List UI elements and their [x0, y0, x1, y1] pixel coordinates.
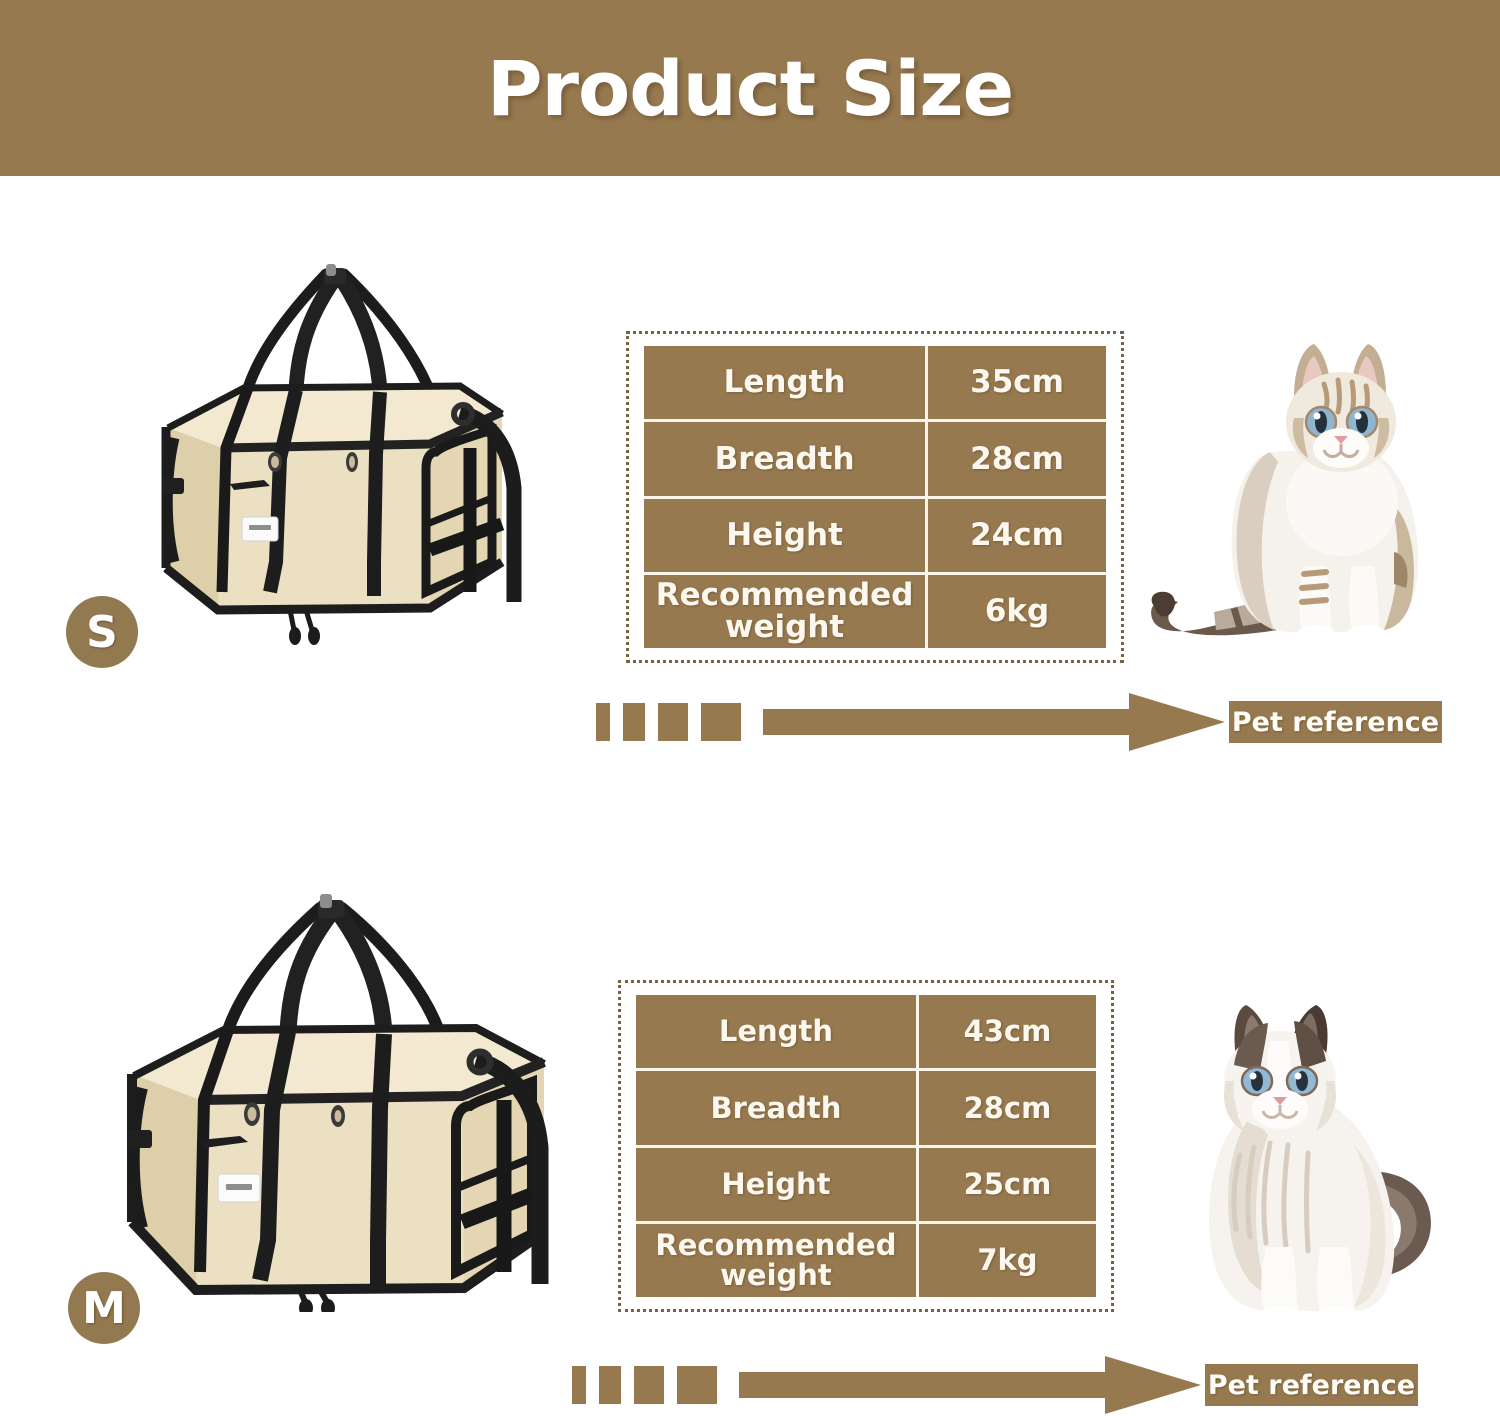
- spec-value: 28cm: [928, 422, 1106, 495]
- spec-value: 6kg: [928, 575, 1106, 648]
- arrow-dash: [658, 703, 688, 741]
- page-title: Product Size: [487, 44, 1013, 133]
- arrow-dash: [701, 703, 741, 741]
- spec-value: 25cm: [919, 1148, 1096, 1221]
- table-row: Length 35cm: [644, 346, 1106, 422]
- product-size-infographic: Product Size S: [0, 0, 1500, 1416]
- arrow-head-icon: [763, 693, 1225, 751]
- spec-label: Recommended weight: [636, 1224, 919, 1297]
- arrow-dash: [572, 1366, 586, 1404]
- table-row: Length 43cm: [636, 995, 1096, 1071]
- spec-label: Recommended weight: [644, 575, 928, 648]
- product-image-bag-small: [130, 262, 530, 662]
- spec-label: Height: [636, 1148, 919, 1221]
- arrow-dash: [677, 1366, 717, 1404]
- product-image-bag-medium: [100, 892, 580, 1312]
- spec-label: Breadth: [636, 1071, 919, 1144]
- table-row: Height 25cm: [636, 1148, 1096, 1224]
- table-row: Height 24cm: [644, 499, 1106, 575]
- spec-value: 43cm: [919, 995, 1096, 1068]
- size-badge-small: S: [66, 596, 138, 668]
- arrow-head-icon: [739, 1356, 1201, 1414]
- page-header-banner: Product Size: [0, 0, 1500, 176]
- spec-table-body: Length 35cm Breadth 28cm Height 24cm Rec…: [644, 346, 1106, 648]
- pet-image-tabby-cat: [1118, 322, 1458, 652]
- spec-label: Length: [636, 995, 919, 1068]
- pet-reference-label: Pet reference: [1229, 701, 1442, 743]
- pet-reference-arrow-medium: Pet reference: [572, 1356, 1418, 1414]
- arrow-dash: [623, 703, 645, 741]
- pet-image-ragdoll-cat: [1140, 985, 1460, 1320]
- pet-reference-label: Pet reference: [1205, 1364, 1418, 1406]
- arrow-dash: [634, 1366, 664, 1404]
- table-row: Breadth 28cm: [636, 1071, 1096, 1147]
- table-row: Recommended weight 6kg: [644, 575, 1106, 648]
- spec-value: 7kg: [919, 1224, 1096, 1297]
- spec-value: 24cm: [928, 499, 1106, 572]
- pet-reference-arrow-small: Pet reference: [596, 693, 1442, 751]
- arrow-dash: [596, 703, 610, 741]
- spec-table-medium: Length 43cm Breadth 28cm Height 25cm Rec…: [618, 980, 1114, 1312]
- spec-table-body: Length 43cm Breadth 28cm Height 25cm Rec…: [636, 995, 1096, 1297]
- spec-table-small: Length 35cm Breadth 28cm Height 24cm Rec…: [626, 331, 1124, 663]
- arrow-dash: [599, 1366, 621, 1404]
- spec-label: Breadth: [644, 422, 928, 495]
- spec-value: 35cm: [928, 346, 1106, 419]
- table-row: Recommended weight 7kg: [636, 1224, 1096, 1297]
- spec-label: Length: [644, 346, 928, 419]
- spec-label: Height: [644, 499, 928, 572]
- table-row: Breadth 28cm: [644, 422, 1106, 498]
- spec-value: 28cm: [919, 1071, 1096, 1144]
